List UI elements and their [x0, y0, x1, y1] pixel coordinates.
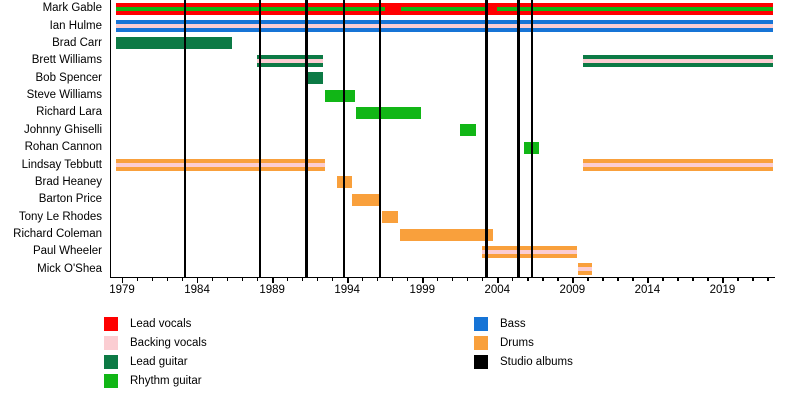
legend-color-swatch-icon — [104, 336, 118, 350]
x-axis-minor-tick — [227, 277, 228, 281]
legend-item[interactable]: Lead vocals — [104, 314, 207, 333]
timeline-plot-area — [110, 0, 775, 278]
x-axis-minor-tick — [527, 277, 528, 281]
member-name-label: Mick O'Shea — [37, 263, 102, 275]
member-name-label: Mark Gable — [43, 2, 102, 14]
legend-item[interactable]: Drums — [474, 333, 573, 352]
timeline-bar-role-stripe — [401, 7, 488, 11]
x-axis-tick-label: 1999 — [409, 284, 435, 296]
timeline-bar — [325, 90, 355, 102]
legend-color-swatch-icon — [474, 317, 488, 331]
x-axis-minor-tick — [452, 277, 453, 281]
legend-color-swatch-icon — [104, 317, 118, 331]
legend-column-right: BassDrumsStudio albums — [474, 314, 573, 371]
member-name-label: Johnny Ghiselli — [24, 124, 102, 136]
timeline-bar-role-stripe — [116, 24, 773, 28]
timeline-bar — [352, 194, 381, 206]
x-axis-tick-label: 2019 — [710, 284, 736, 296]
member-name-label: Brad Carr — [52, 37, 102, 49]
x-axis-major-tick — [197, 277, 198, 283]
x-axis-tick-label: 1989 — [259, 284, 285, 296]
member-name-label: Brad Heaney — [35, 176, 102, 188]
x-axis-minor-tick — [542, 277, 543, 281]
legend-item[interactable]: Bass — [474, 314, 573, 333]
x-axis-major-tick — [722, 277, 723, 283]
x-axis-minor-tick — [182, 277, 183, 281]
x-axis-tick-label: 1979 — [109, 284, 135, 296]
x-axis-minor-tick — [767, 277, 768, 281]
timeline-bar — [382, 211, 399, 223]
x-axis-minor-tick — [407, 277, 408, 281]
chart-legend: Lead vocalsBacking vocalsLead guitarRhyt… — [0, 314, 800, 400]
x-axis-minor-tick — [437, 277, 438, 281]
studio-album-marker-line — [531, 0, 534, 278]
x-axis-minor-tick — [152, 277, 153, 281]
x-axis-minor-tick — [707, 277, 708, 281]
timeline-bar-role-stripe — [583, 163, 774, 167]
legend-item[interactable]: Rhythm guitar — [104, 371, 207, 390]
legend-item-label: Backing vocals — [130, 337, 207, 349]
timeline-bar-role-stripe — [583, 59, 774, 63]
x-axis-minor-tick — [167, 277, 168, 281]
legend-item[interactable]: Backing vocals — [104, 333, 207, 352]
legend-item-label: Lead guitar — [130, 356, 188, 368]
x-axis-minor-tick — [212, 277, 213, 281]
x-axis-major-tick — [572, 277, 573, 283]
x-axis-tick-label: 1984 — [184, 284, 210, 296]
member-name-label: Lindsay Tebbutt — [22, 159, 102, 171]
x-axis-minor-tick — [692, 277, 693, 281]
legend-item[interactable]: Studio albums — [474, 352, 573, 371]
x-axis-minor-tick — [632, 277, 633, 281]
member-name-label: Ian Hulme — [50, 20, 102, 32]
timeline-bar — [356, 107, 421, 119]
x-axis-tick-label: 2014 — [635, 284, 661, 296]
timeline-bar-role-stripe — [578, 267, 592, 271]
studio-album-marker-line — [184, 0, 187, 278]
x-axis-minor-tick — [512, 277, 513, 281]
member-name-label: Paul Wheeler — [33, 245, 102, 257]
x-axis-tick-label: 2004 — [484, 284, 510, 296]
x-axis-minor-tick — [602, 277, 603, 281]
x-axis-minor-tick — [332, 277, 333, 281]
timeline-bar — [400, 229, 493, 241]
legend-item[interactable]: Lead guitar — [104, 352, 207, 371]
legend-item-label: Rhythm guitar — [130, 375, 202, 387]
timeline-bar-role-stripe — [116, 163, 325, 167]
x-axis-minor-tick — [257, 277, 258, 281]
x-axis-minor-tick — [317, 277, 318, 281]
x-axis-major-tick — [647, 277, 648, 283]
x-axis-minor-tick — [662, 277, 663, 281]
timeline-bar-role-stripe — [257, 59, 323, 63]
x-axis-minor-tick — [242, 277, 243, 281]
x-axis-major-tick — [272, 277, 273, 283]
x-axis-major-tick — [347, 277, 348, 283]
legend-item-label: Studio albums — [500, 356, 573, 368]
x-axis-minor-tick — [587, 277, 588, 281]
x-axis-minor-tick — [557, 277, 558, 281]
member-names-column: Mark GableIan HulmeBrad CarrBrett Willia… — [0, 0, 108, 278]
x-axis-minor-tick — [617, 277, 618, 281]
x-axis-major-tick — [422, 277, 423, 283]
x-axis-major-tick — [122, 277, 123, 283]
legend-color-swatch-icon — [104, 355, 118, 369]
member-name-label: Bob Spencer — [36, 72, 103, 84]
x-axis-minor-tick — [362, 277, 363, 281]
member-name-label: Tony Le Rhodes — [19, 211, 102, 223]
x-axis-tick-label: 1994 — [334, 284, 360, 296]
timeline-bar — [116, 37, 232, 49]
x-axis-major-tick — [497, 277, 498, 283]
studio-album-marker-line — [343, 0, 346, 278]
member-name-label: Richard Coleman — [13, 228, 102, 240]
member-name-label: Brett Williams — [32, 54, 102, 66]
studio-album-marker-line — [379, 0, 382, 278]
timeline-bars-layer — [110, 0, 775, 278]
x-axis: 197919841989199419992004200920142019 — [110, 277, 775, 307]
y-axis-line — [110, 0, 111, 277]
legend-item-label: Lead vocals — [130, 318, 191, 330]
member-name-label: Richard Lara — [36, 106, 102, 118]
timeline-bar-role-stripe — [497, 7, 773, 11]
x-axis-minor-tick — [737, 277, 738, 281]
x-axis-minor-tick — [302, 277, 303, 281]
x-axis-line — [110, 277, 775, 278]
x-axis-minor-tick — [677, 277, 678, 281]
x-axis-minor-tick — [482, 277, 483, 281]
x-axis-minor-tick — [752, 277, 753, 281]
timeline-bar — [460, 124, 477, 136]
legend-item-label: Drums — [500, 337, 534, 349]
legend-column-left: Lead vocalsBacking vocalsLead guitarRhyt… — [104, 314, 207, 390]
x-axis-minor-tick — [287, 277, 288, 281]
x-axis-tick-label: 2009 — [560, 284, 586, 296]
x-axis-minor-tick — [392, 277, 393, 281]
studio-album-marker-line — [517, 0, 520, 278]
legend-color-swatch-icon — [474, 336, 488, 350]
x-axis-minor-tick — [137, 277, 138, 281]
legend-item-label: Bass — [500, 318, 526, 330]
band-membership-timeline-chart: Mark GableIan HulmeBrad CarrBrett Willia… — [0, 0, 800, 400]
legend-color-swatch-icon — [474, 355, 488, 369]
legend-color-swatch-icon — [104, 374, 118, 388]
studio-album-marker-line — [485, 0, 488, 278]
studio-album-marker-line — [305, 0, 308, 278]
studio-album-marker-line — [259, 0, 262, 278]
member-name-label: Steve Williams — [27, 89, 102, 101]
member-name-label: Barton Price — [39, 193, 102, 205]
x-axis-minor-tick — [377, 277, 378, 281]
member-name-label: Rohan Cannon — [25, 141, 102, 153]
x-axis-minor-tick — [467, 277, 468, 281]
